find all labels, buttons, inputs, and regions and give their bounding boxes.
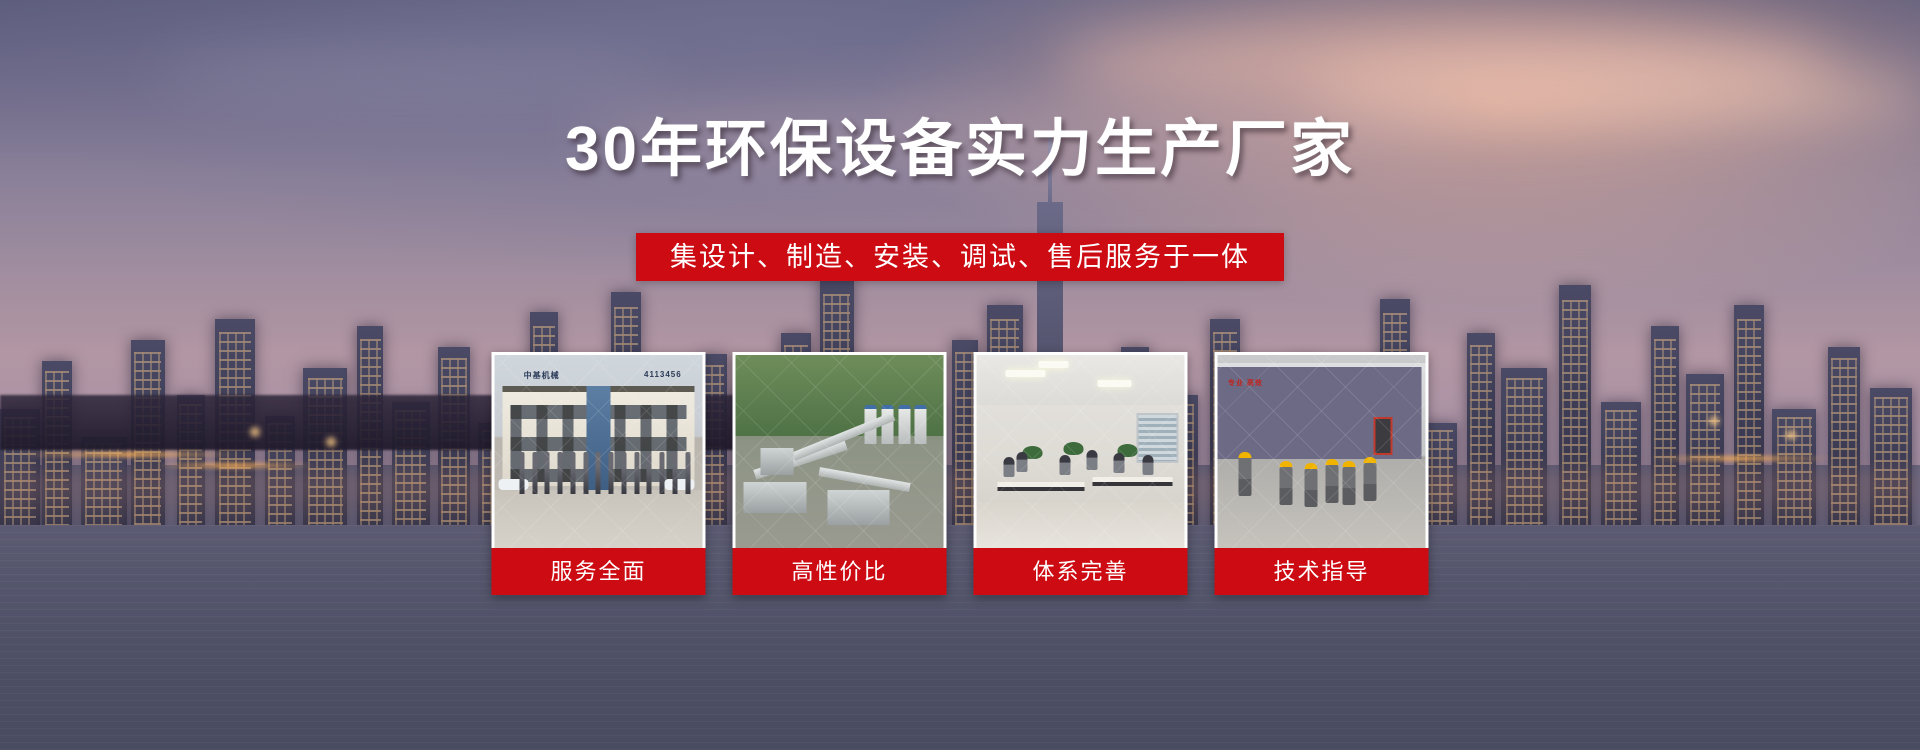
card-label: 高性价比	[733, 548, 947, 595]
feature-card[interactable]: 体系完善	[974, 352, 1188, 595]
card-photo-plant	[733, 352, 947, 548]
card-label: 体系完善	[974, 548, 1188, 595]
photo-phone-text: 4113456	[644, 370, 682, 379]
card-photo-headquarters: 中基机械 4113456	[492, 352, 706, 548]
feature-card[interactable]: 高性价比	[733, 352, 947, 595]
card-photo-office	[974, 352, 1188, 548]
hero-banner: 30年环保设备实力生产厂家 集设计、制造、安装、调试、售后服务于一体 中基机械 …	[0, 0, 1920, 750]
card-photo-workers: 产品没有 专业 高效	[1215, 352, 1429, 548]
subtitle-badge: 集设计、制造、安装、调试、售后服务于一体	[636, 233, 1284, 281]
photo-slogan-text: 专业 高效	[1228, 378, 1263, 388]
page-title: 30年环保设备实力生产厂家	[0, 98, 1920, 188]
card-label: 技术指导	[1215, 548, 1429, 595]
photo-logo-text: 中基机械	[524, 370, 560, 381]
feature-card-list: 中基机械 4113456 服务全面	[492, 352, 1429, 595]
feature-card[interactable]: 产品没有 专业 高效 技术指导	[1215, 352, 1429, 595]
card-label: 服务全面	[492, 548, 706, 595]
feature-card[interactable]: 中基机械 4113456 服务全面	[492, 352, 706, 595]
